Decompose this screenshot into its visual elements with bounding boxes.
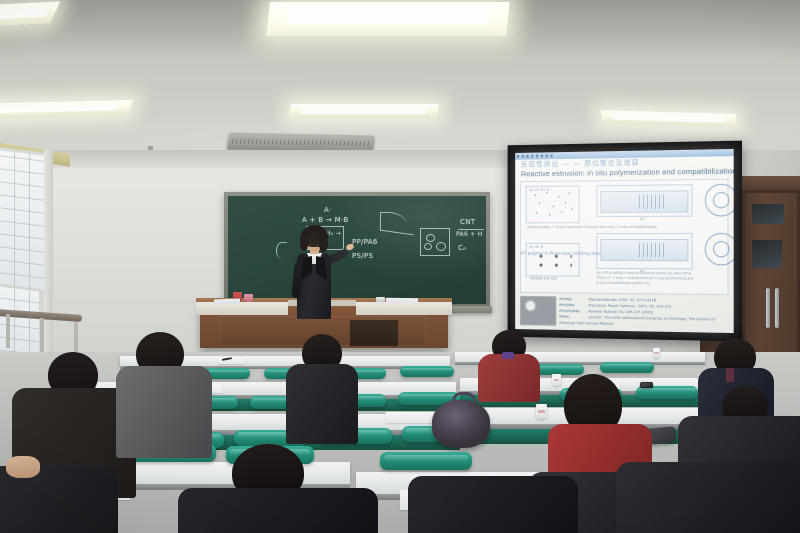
chalk-box-right: [420, 228, 450, 256]
process-label-a: Polymerization + Phase separation: [528, 225, 580, 230]
pink-cup: [244, 294, 253, 302]
torso: [286, 364, 358, 444]
blackboard-surface: A· A + B → M·B O—CH₂ → PP/PA6 PS/PS CNT …: [228, 196, 486, 304]
chalk-note: PA6 + H: [456, 231, 483, 238]
chalk-note: CNT: [460, 218, 475, 226]
diagram-extruder-a: [596, 184, 692, 217]
chalk-circle: [436, 242, 446, 251]
lectern-papers-right: [386, 298, 418, 304]
chalk-circle: [424, 243, 432, 250]
slide-diagram-area: A↓ A↓ B↓ B Polymerization + Phase separa…: [520, 179, 729, 295]
chalk-axis: [380, 230, 414, 236]
lectern-left-surface: [196, 302, 288, 315]
railing-post: [74, 322, 78, 356]
chalk-note: PS/PS: [352, 252, 373, 260]
diagram-core-b: [713, 241, 730, 257]
projection-screen: 反应性挤出 — — 原位聚合及增容 Reactive extrusion: in…: [508, 141, 742, 342]
paper-cup: [536, 404, 547, 419]
chalk-note: Cₙ: [458, 244, 466, 252]
chalk-graph: [380, 212, 407, 231]
diagram-extruder-b: [596, 233, 692, 270]
sem-micrograph: [520, 296, 556, 326]
torso: [616, 462, 800, 533]
diagram-random-dispersion: A↓ A↓ B↓ B: [526, 185, 580, 223]
door-window-lower: [752, 240, 782, 268]
attendee-red-scarf: [478, 330, 540, 392]
torso: [408, 476, 578, 533]
slide-title: Reactive extrusion: in situ polymerizati…: [521, 166, 730, 178]
diagram-bottom-label: Nodular A-B core: [530, 276, 557, 280]
chalk-mark: [276, 242, 287, 259]
reference-item: PP/PC:CP1027, The XVth International Con…: [559, 314, 729, 329]
chalk-note: PP/PA6: [352, 238, 378, 246]
chair[interactable]: [600, 362, 654, 373]
door-window-upper: [752, 204, 784, 224]
chalk-note: A·: [324, 206, 332, 214]
chalk-note: A + B → M·B: [302, 216, 349, 224]
diagram-core-a: [713, 192, 730, 208]
attendee-mid-left: [286, 334, 358, 430]
presentation-slide: 反应性挤出 — — 原位聚合及增容 Reactive extrusion: in…: [515, 149, 733, 333]
diagram-ordered-dispersion: A↓ B↓ B: [526, 243, 580, 277]
presenter-hair-left: [300, 232, 308, 251]
subfigure-label-a: (a): [640, 217, 645, 221]
reference-citation: Macromolecules 1999, 32, 4713-4718: [588, 298, 656, 303]
attendee-far-right: [616, 452, 800, 533]
handbag: [432, 400, 490, 448]
diagram-label: A↓ B↓ B: [529, 245, 543, 249]
attendee-front-right: [408, 476, 578, 533]
window-mullion: [44, 149, 53, 358]
lanyard: [502, 352, 514, 359]
lecture-hall-photo: A· A + B → M·B O—CH₂ → PP/PA6 PS/PS CNT …: [0, 0, 800, 533]
presenter-hair-right: [319, 232, 328, 252]
necktie: [726, 368, 734, 382]
torso: [478, 354, 540, 402]
attendee-center-dark: [188, 444, 368, 533]
lectern-right-surface: [356, 302, 452, 315]
chalk-fraction-bar: [458, 229, 484, 230]
reference-list: PP/PA6:Macromolecules 1999, 32, 4713-471…: [559, 296, 729, 329]
chalk-eraser: [376, 297, 385, 302]
railing-post: [6, 314, 10, 348]
diagram-caption: for a PP-g-MA/PA-6 reactive blending sys…: [596, 271, 694, 286]
light-panel-top-center: [266, 2, 510, 36]
chair[interactable]: [400, 366, 454, 377]
door-handle[interactable]: [766, 288, 770, 328]
attendee-gray-jacket: [114, 332, 210, 452]
process-label-b: Reactive extrusion / in situ compatibili…: [585, 225, 638, 230]
chalk-circle: [426, 234, 435, 242]
lectern-papers: [214, 299, 240, 305]
slide-footnote: A*: polymer A chains bear initiating sit…: [521, 251, 600, 256]
door-handle-secondary[interactable]: [775, 288, 779, 328]
paper-cup: [653, 348, 660, 358]
reference-system: PP/PC:: [559, 314, 588, 320]
chair[interactable]: [380, 452, 472, 470]
torso: [178, 488, 378, 533]
hands: [6, 456, 40, 478]
light-panel-mid-center: [289, 104, 438, 118]
blackboard: A· A + B → M·B O—CH₂ → PP/PA6 PS/PS CNT …: [224, 192, 490, 308]
presenter: [288, 228, 342, 320]
window-upper-left: [0, 147, 48, 295]
railing-post: [40, 318, 44, 352]
attendee-front-left: [4, 436, 124, 533]
